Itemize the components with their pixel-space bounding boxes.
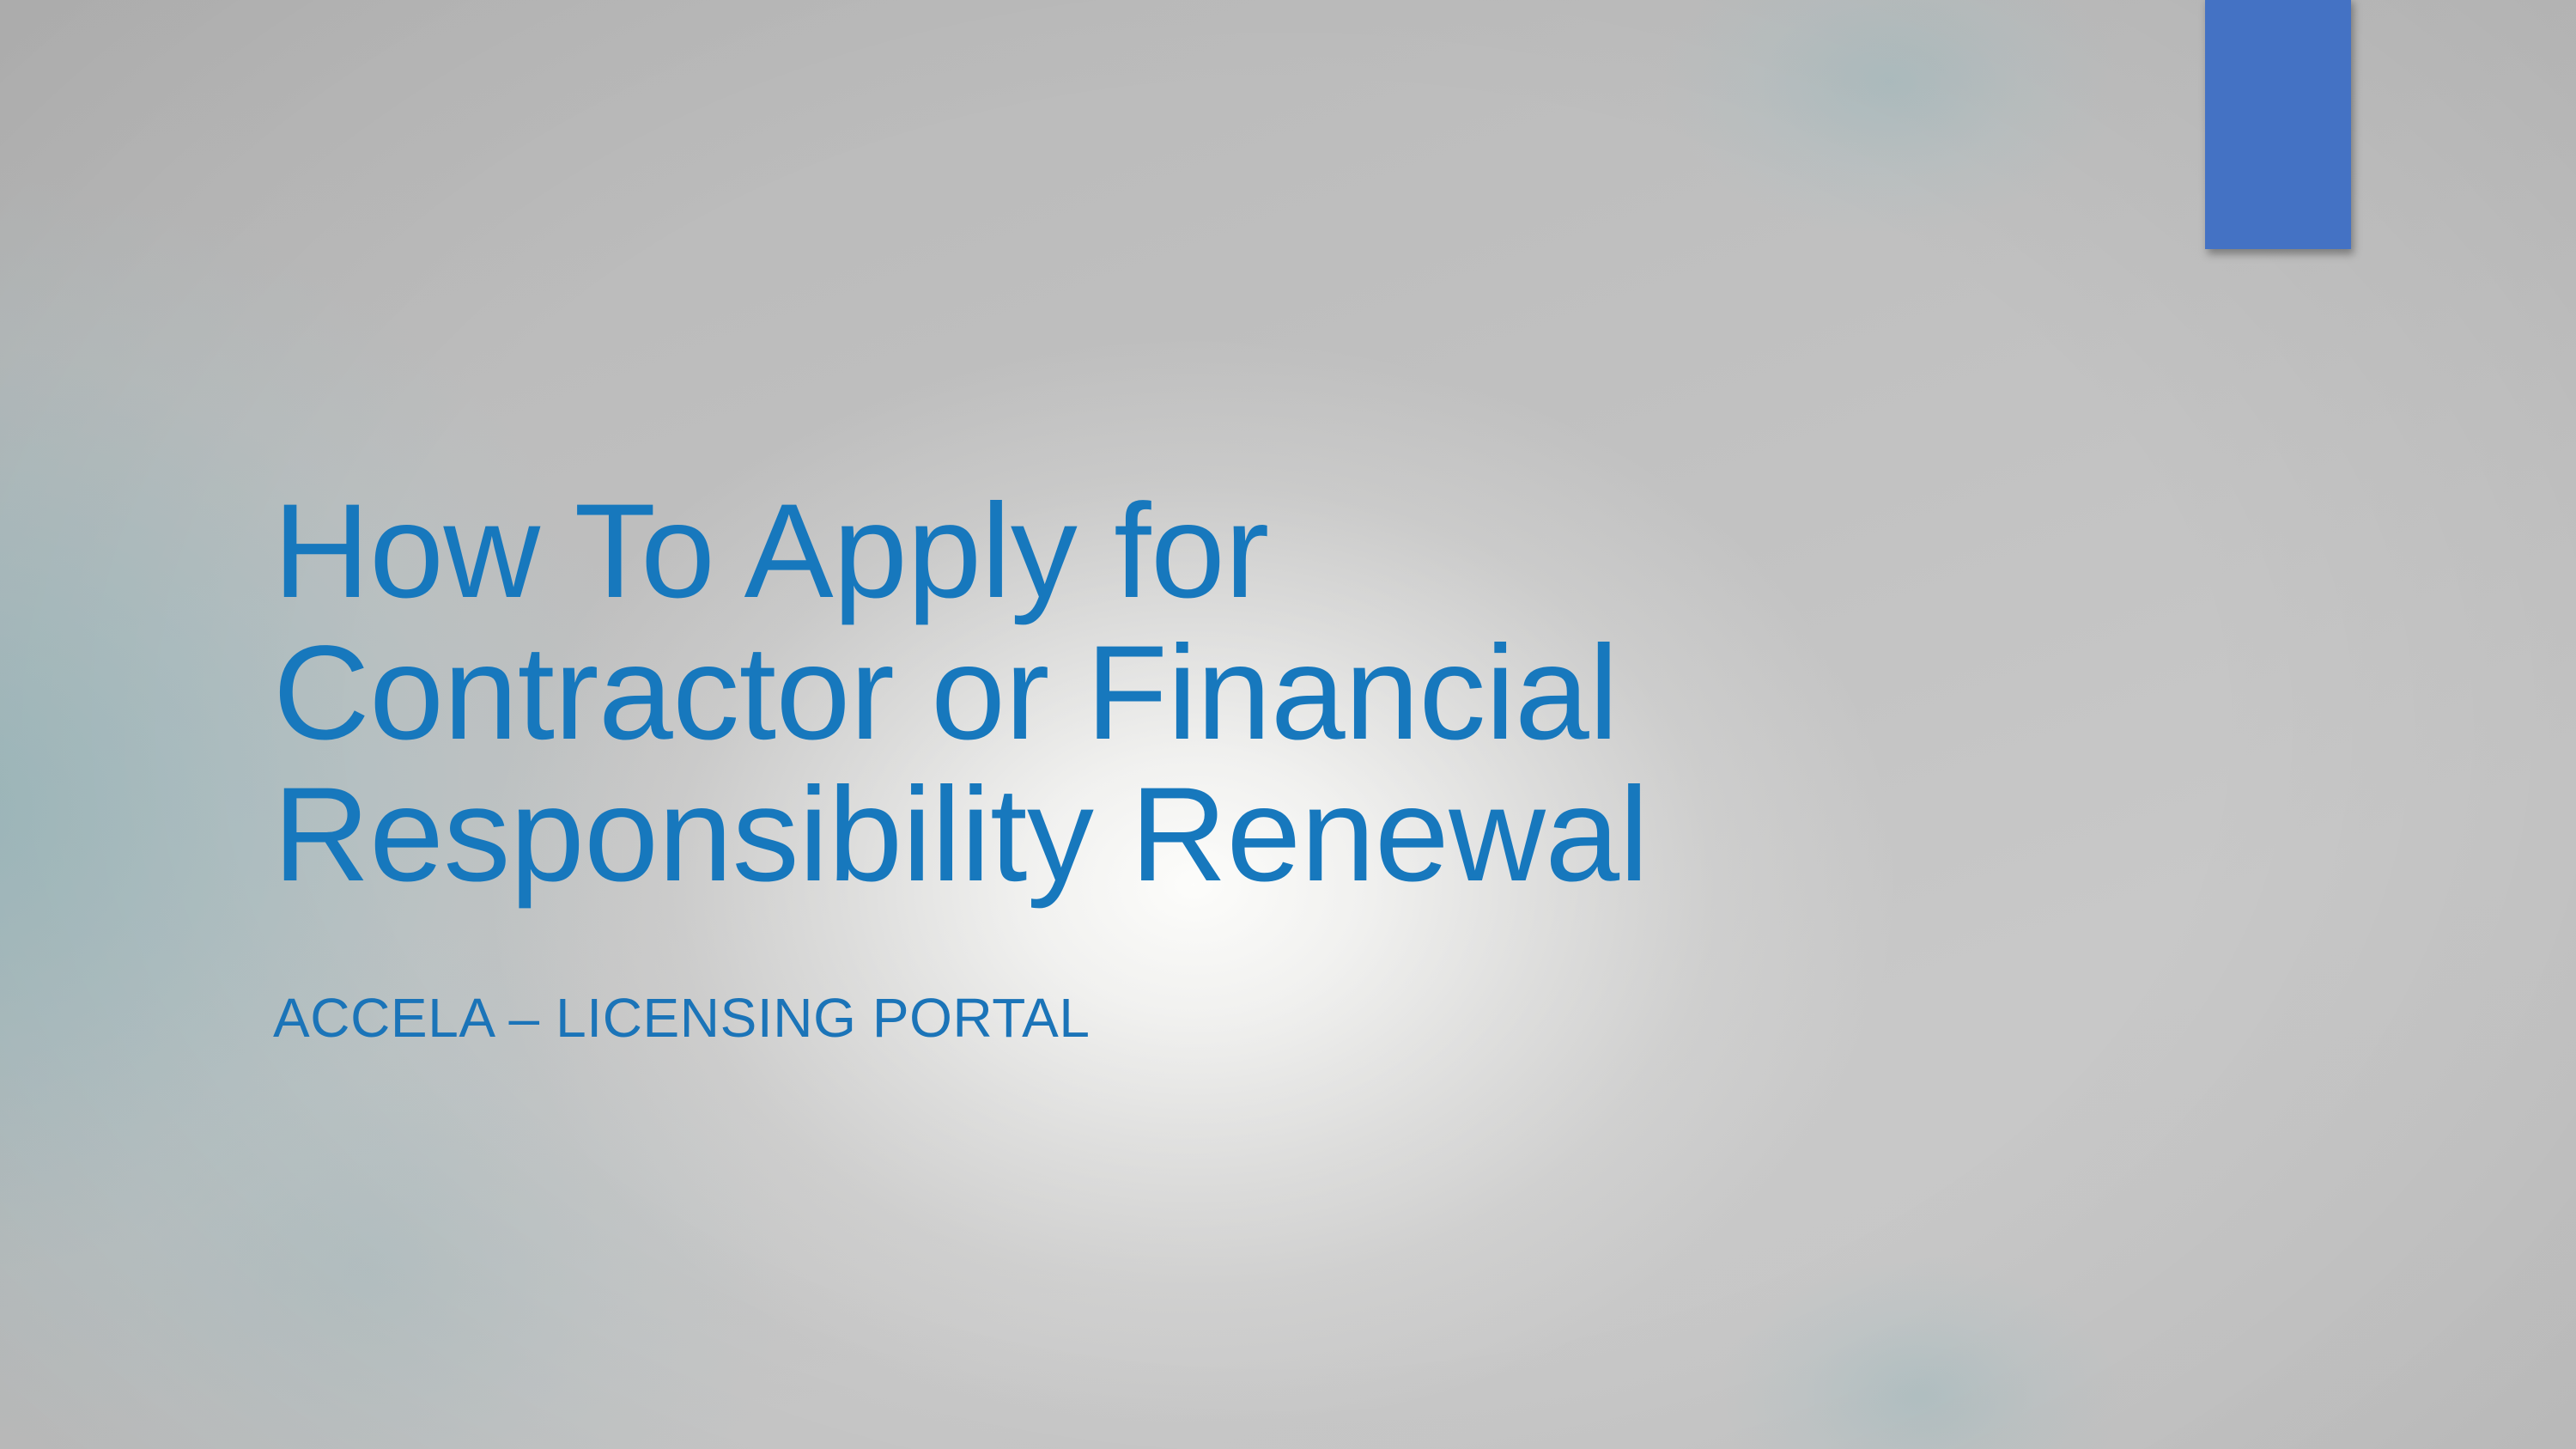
title-slide: How To Apply for Contractor or Financial… bbox=[0, 0, 2576, 1449]
accent-rectangle-top-right bbox=[2205, 0, 2351, 249]
slide-subtitle: ACCELA – LICENSING PORTAL bbox=[273, 906, 2076, 1046]
slide-title: How To Apply for Contractor or Financial… bbox=[273, 481, 2076, 906]
slide-text-block: How To Apply for Contractor or Financial… bbox=[273, 481, 2076, 1046]
